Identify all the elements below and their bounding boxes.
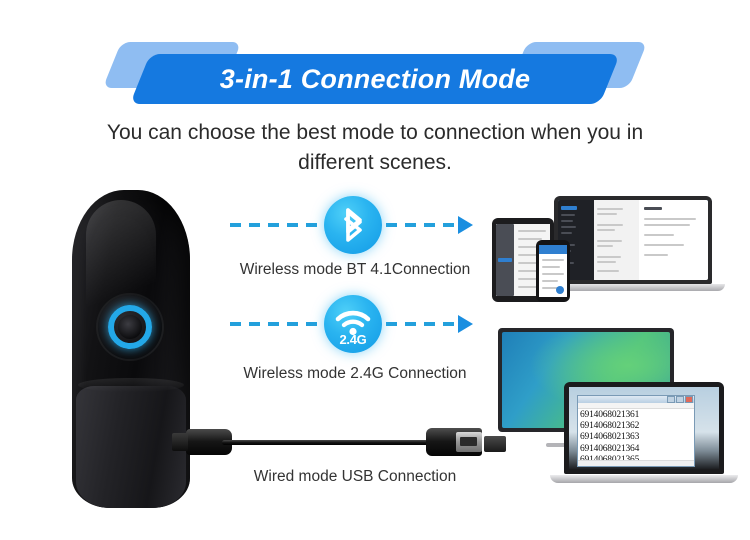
usb-a-contact [456,432,482,452]
laptop-base [550,475,738,483]
wifi-icon: 2.4G [324,295,382,353]
mail-body-line [644,224,690,226]
dashed-line-left-wifi [230,322,322,326]
phone-app-header [539,245,567,254]
mail-body-line [644,244,684,246]
close-icon[interactable] [685,396,693,403]
notepad-text-area[interactable]: 6914068021361 6914068021362 691406802136… [578,409,694,467]
dashed-line-right-bluetooth [386,223,458,227]
page-title: 3-in-1 Connection Mode [140,54,610,104]
mail-sidebar-line [561,226,576,228]
device-cluster-wireless [492,196,750,302]
mail-list-line [597,261,616,263]
minimize-icon[interactable] [667,396,675,403]
dashed-line-left-bluetooth [230,223,322,227]
bluetooth-icon [324,196,382,254]
laptop-lid: 6914068021361 6914068021362 691406802136… [564,382,724,474]
mail-sidebar-line [561,214,575,216]
phone-fab-button[interactable] [556,286,564,294]
mail-list-line [597,208,623,210]
mail-reading-pane [639,200,708,280]
mail-body-line [644,234,674,236]
caption-wifi: Wireless mode 2.4G Connection [205,365,505,383]
macbook-screen [558,200,708,280]
mail-list-line [597,224,623,226]
tablet-sidebar-selected [498,258,512,262]
notepad-window[interactable]: 6914068021361 6914068021362 691406802136… [577,395,695,467]
phone-screen [539,245,567,297]
wifi-band-label: 2.4G [324,332,382,347]
notepad-statusbar [578,460,694,466]
usb-cable-wire [222,440,450,445]
mail-list-line [597,256,621,258]
macbook-lid [554,196,712,284]
mail-body-header [644,207,662,210]
caption-usb: Wired mode USB Connection [205,468,505,486]
arrow-head-bluetooth [458,216,473,234]
barcode-line: 6914068021362 [580,421,692,432]
infographic-page: 3-in-1 Connection Mode You can choose th… [0,0,750,540]
maximize-icon[interactable] [676,396,684,403]
usb-a-plug [426,428,482,456]
laptop-screen: 6914068021361 6914068021362 691406802136… [569,387,719,469]
mail-list-line [597,229,615,231]
arrow-head-wifi [458,315,473,333]
scan-lens [118,315,142,339]
laptop-barcode-output: 6914068021361 6914068021362 691406802136… [564,382,724,482]
mail-sidebar-selected [561,206,577,210]
barcode-line: 6914068021361 [580,410,692,421]
scanner-seam [78,378,184,392]
phone-list-line [542,259,564,261]
phone-list-line [542,266,560,268]
phone-list-line [542,273,564,275]
barcode-line: 6914068021364 [580,444,692,455]
mail-body-line [644,254,668,256]
mail-body-line [644,218,696,220]
page-subtitle: You can choose the best mode to connecti… [100,118,650,178]
usb-cable-icon [186,437,482,447]
mail-sidebar-line [561,232,572,234]
mail-sidebar-line [561,220,573,222]
barcode-line: 6914068021363 [580,432,692,443]
mail-message-list [594,200,639,280]
macbook-mail [554,196,712,290]
phone-device [536,240,570,302]
tablet-list-line [518,270,538,272]
mail-list-line [597,245,613,247]
notepad-titlebar[interactable] [578,396,694,403]
barcode-scanner-device [72,190,190,508]
mail-list-line [597,240,622,242]
scanner-grip [76,386,186,508]
title-banner: 3-in-1 Connection Mode [110,40,640,108]
mail-list-line [597,213,617,215]
tablet-list-line [518,230,546,232]
phone-list-line [542,280,558,282]
dashed-line-right-wifi [386,322,458,326]
scan-button[interactable] [98,295,162,359]
caption-bluetooth: Wireless mode BT 4.1Connection [205,261,505,279]
mail-list-line [597,270,619,272]
device-cluster-wired: 6914068021361 6914068021362 691406802136… [484,328,750,486]
